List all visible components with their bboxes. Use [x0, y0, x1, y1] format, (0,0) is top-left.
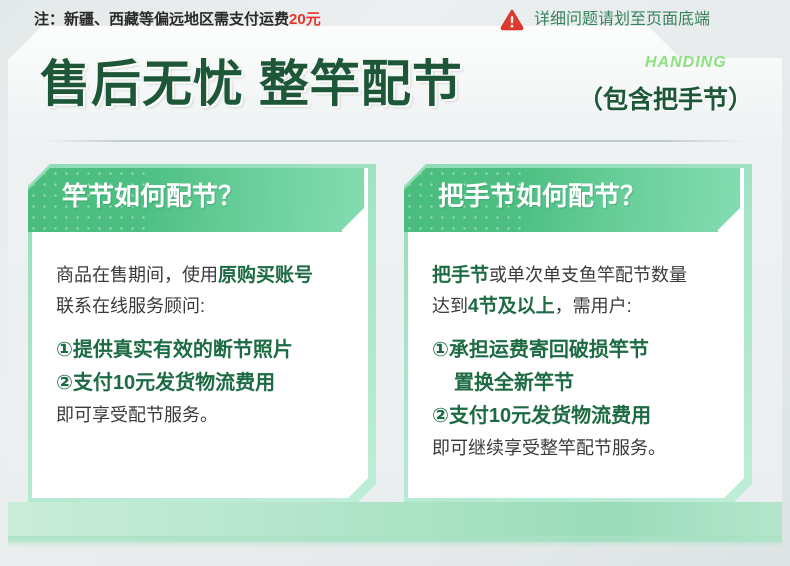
- card-content: 商品在售期间，使用原购买账号 联系在线服务顾问: ①提供真实有效的断节照片 ②支…: [56, 260, 354, 431]
- footer-glow: [8, 536, 782, 548]
- card-tail-text: 即可享受配节服务。: [56, 400, 354, 431]
- poster-header: 售后无忧 整竿配节 HANDING （包含把手节）: [0, 46, 790, 122]
- card-title: 把手节如何配节？: [438, 168, 646, 224]
- card-line-text: ，需用户:: [555, 296, 632, 316]
- header-divider: [44, 140, 746, 142]
- card-bullet: ①承担运费寄回破损竿节: [432, 334, 730, 367]
- footer-note-text: 注：新疆、西藏等偏远地区需支付运费: [34, 11, 289, 28]
- card-line-text: 商品在售期间，使用: [56, 265, 218, 285]
- footer-note: 注：新疆、西藏等偏远地区需支付运费20元: [34, 0, 321, 40]
- card-tail-text: 即可继续享受整竿配节服务。: [432, 433, 730, 464]
- page-title: 售后无忧 整竿配节: [40, 46, 463, 122]
- card-bullet: ②支付10元发货物流费用: [432, 400, 730, 433]
- card-handle-section: 把手节如何配节？ 把手节或单次单支鱼竿配节数量 达到4节及以上，需用户: ①承担…: [404, 164, 752, 506]
- card-line: 联系在线服务顾问:: [56, 291, 354, 322]
- header-subtitle: （包含把手节）: [578, 80, 753, 116]
- card-line-emphasis: 4节及以上: [468, 296, 555, 317]
- card-line-text: 或单次单支鱼竿配节数量: [489, 265, 687, 285]
- card-line: 达到4节及以上，需用户:: [432, 291, 730, 322]
- footer-hint-text: 详细问题请划至页面底端: [534, 0, 710, 40]
- card-bullet: ①提供真实有效的断节照片: [56, 334, 354, 367]
- footer-note-fee: 20元: [289, 11, 321, 28]
- card-line: 商品在售期间，使用原购买账号: [56, 260, 354, 291]
- card-line-text: 达到: [432, 296, 468, 316]
- poster-stage: 售后无忧 整竿配节 HANDING （包含把手节） 竿节如何配节？ 商品在售期间…: [0, 0, 790, 566]
- card-line: 把手节或单次单支鱼竿配节数量: [432, 260, 730, 291]
- brand-logo: HANDING: [645, 54, 727, 72]
- card-rod-section: 竿节如何配节？ 商品在售期间，使用原购买账号 联系在线服务顾问: ①提供真实有效…: [28, 164, 376, 506]
- card-line-emphasis: 原购买账号: [218, 265, 313, 286]
- warning-triangle-icon: [500, 9, 524, 31]
- card-bullet-continuation: 置换全新竿节: [432, 367, 730, 400]
- cards-container: 竿节如何配节？ 商品在售期间，使用原购买账号 联系在线服务顾问: ①提供真实有效…: [0, 164, 790, 504]
- card-spacer: [56, 322, 354, 334]
- card-bullet: ②支付10元发货物流费用: [56, 367, 354, 400]
- card-spacer: [432, 322, 730, 334]
- card-title: 竿节如何配节？: [62, 168, 244, 224]
- card-line-emphasis: 把手节: [432, 265, 489, 286]
- card-content: 把手节或单次单支鱼竿配节数量 达到4节及以上，需用户: ①承担运费寄回破损竿节 …: [432, 260, 730, 464]
